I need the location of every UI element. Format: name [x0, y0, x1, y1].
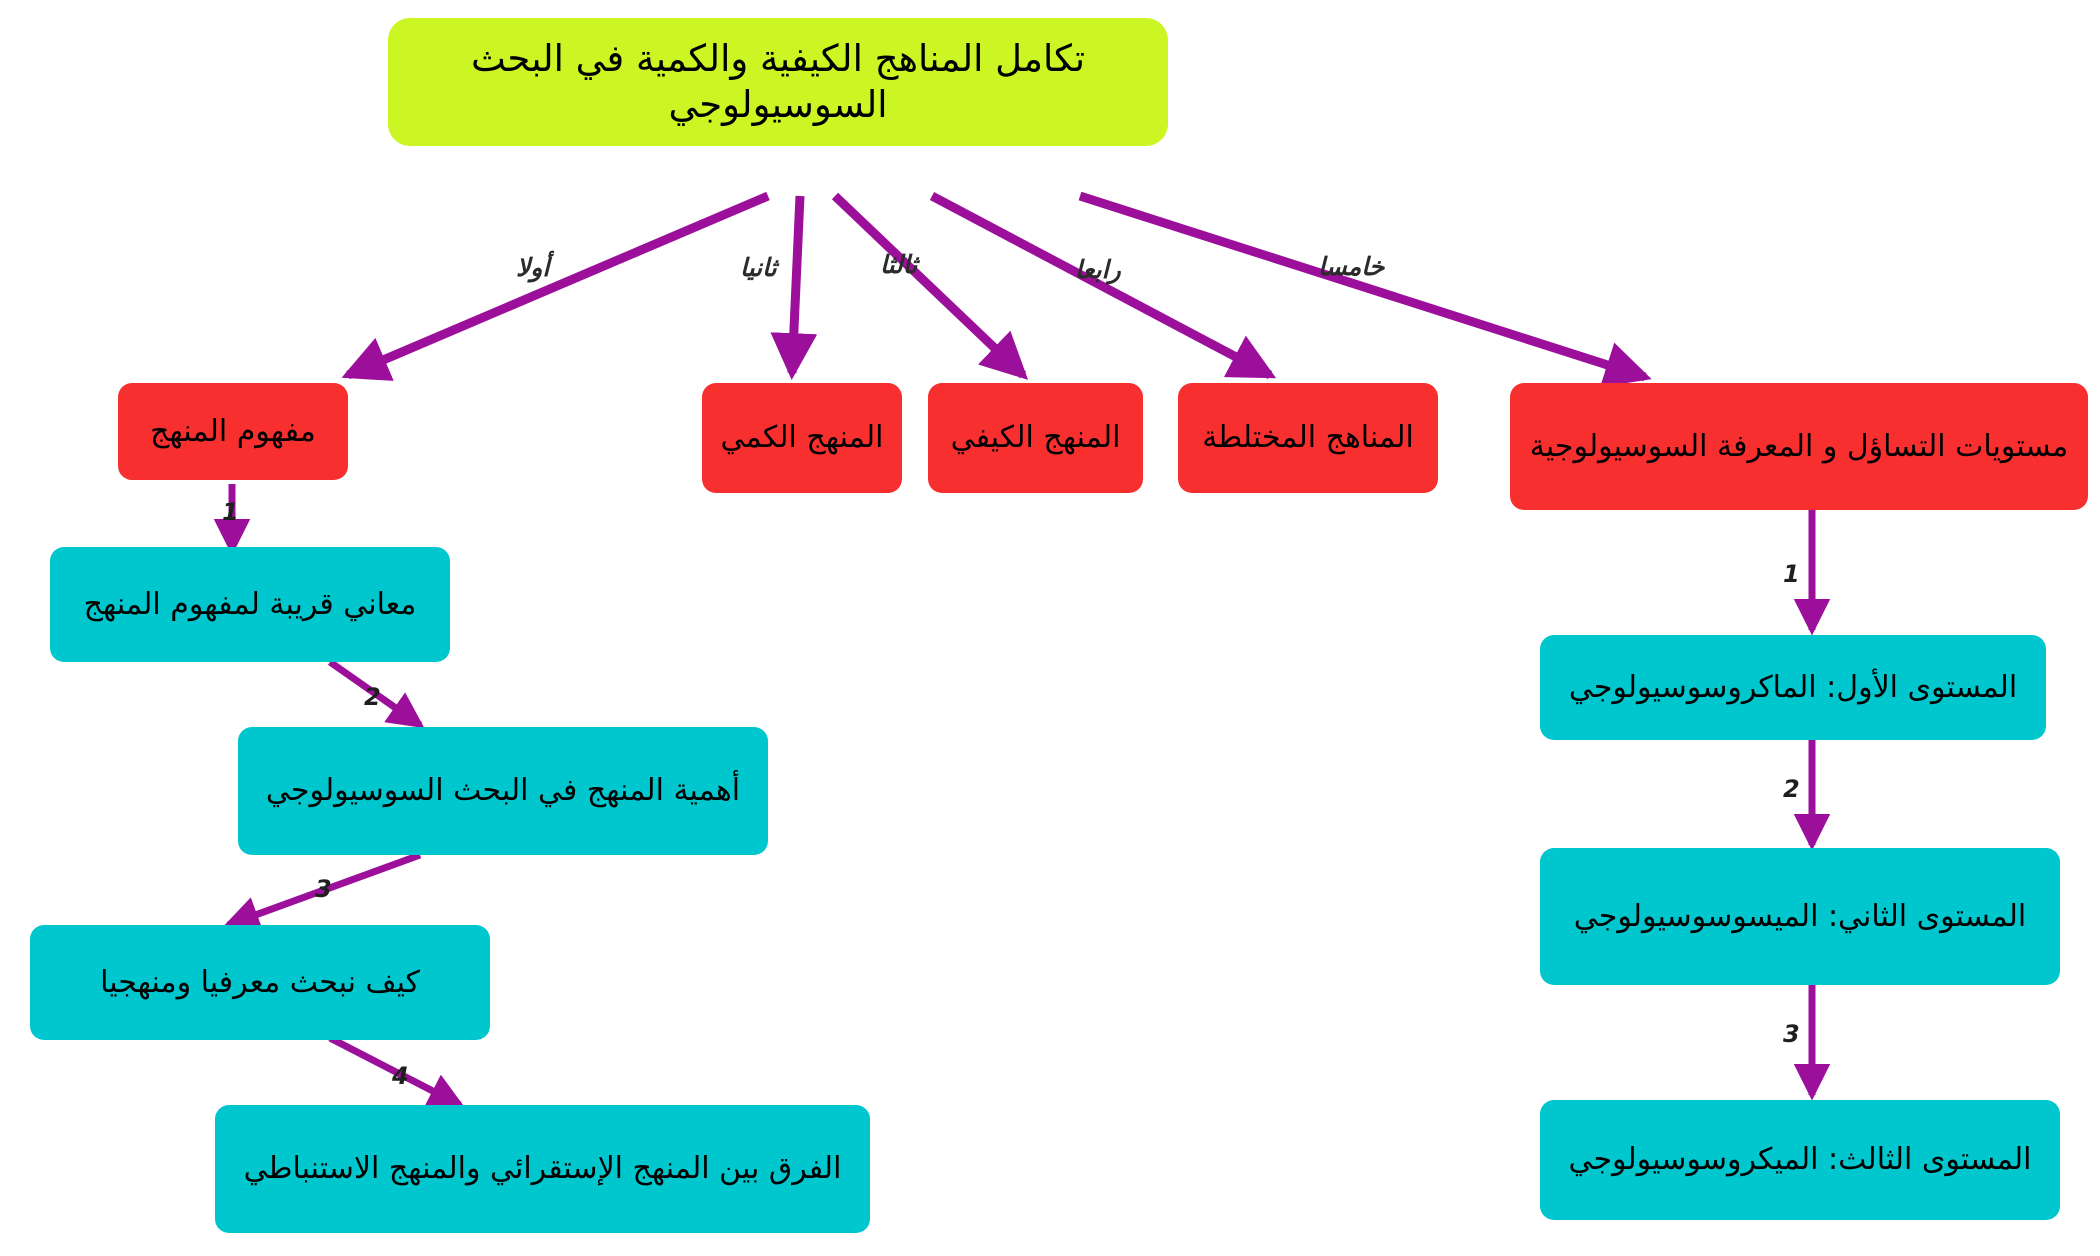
leaf-node-left-1[interactable]: معاني قريبة لمفهوم المنهج — [50, 547, 450, 662]
edge-root-to-branch-5 — [1080, 196, 1645, 377]
leaf-node-label: كيف نبحث معرفيا ومنهجيا — [100, 964, 420, 1002]
leaf-node-right-3[interactable]: المستوى الثالث: الميكروسوسيولوجي — [1540, 1100, 2060, 1220]
branch-node-mixed[interactable]: المناهج المختلطة — [1178, 383, 1438, 493]
branch-node-label: المنهج الكمي — [721, 419, 884, 457]
leaf-node-left-2[interactable]: أهمية المنهج في البحث السوسيولوجي — [238, 727, 768, 855]
edge-root-to-branch-1 — [348, 196, 768, 375]
edge-root-to-branch-2 — [792, 196, 800, 373]
leaf-node-left-4[interactable]: الفرق بين المنهج الإستقرائي والمنهج الاس… — [215, 1105, 870, 1233]
leaf-node-right-2[interactable]: المستوى الثاني: الميسوسوسيولوجي — [1540, 848, 2060, 985]
edge-left2-to-left-3 — [228, 855, 420, 925]
branch-node-concept[interactable]: مفهوم المنهج — [118, 383, 348, 480]
edge-left3-to-left-4 — [330, 1038, 460, 1105]
branch-node-label: مفهوم المنهج — [150, 413, 316, 451]
mindmap-canvas: تكامل المناهج الكيفية والكمية في البحث ا… — [0, 0, 2100, 1256]
edge-root-to-branch-3 — [835, 196, 1023, 375]
edge-root-to-branch-4 — [932, 196, 1270, 375]
leaf-node-label: المستوى الثاني: الميسوسوسيولوجي — [1574, 898, 2026, 936]
branch-node-label: المناهج المختلطة — [1202, 419, 1414, 457]
branch-node-qualitative[interactable]: المنهج الكيفي — [928, 383, 1143, 493]
leaf-node-right-1[interactable]: المستوى الأول: الماكروسوسيولوجي — [1540, 635, 2046, 740]
leaf-node-label: معاني قريبة لمفهوم المنهج — [84, 586, 417, 624]
branch-node-levels[interactable]: مستويات التساؤل و المعرفة السوسيولوجية — [1510, 383, 2088, 510]
branch-node-label: المنهج الكيفي — [951, 419, 1121, 457]
edge-left1-to-left-2 — [330, 662, 420, 725]
branch-node-quantitative[interactable]: المنهج الكمي — [702, 383, 902, 493]
leaf-node-left-3[interactable]: كيف نبحث معرفيا ومنهجيا — [30, 925, 490, 1040]
leaf-node-label: أهمية المنهج في البحث السوسيولوجي — [266, 772, 740, 810]
leaf-node-label: الفرق بين المنهج الإستقرائي والمنهج الاس… — [244, 1150, 842, 1188]
branch-node-label: مستويات التساؤل و المعرفة السوسيولوجية — [1530, 428, 2068, 466]
root-node[interactable]: تكامل المناهج الكيفية والكمية في البحث ا… — [388, 18, 1168, 146]
leaf-node-label: المستوى الأول: الماكروسوسيولوجي — [1569, 669, 2017, 707]
leaf-node-label: المستوى الثالث: الميكروسوسيولوجي — [1568, 1141, 2031, 1179]
root-node-label: تكامل المناهج الكيفية والكمية في البحث ا… — [402, 36, 1154, 129]
